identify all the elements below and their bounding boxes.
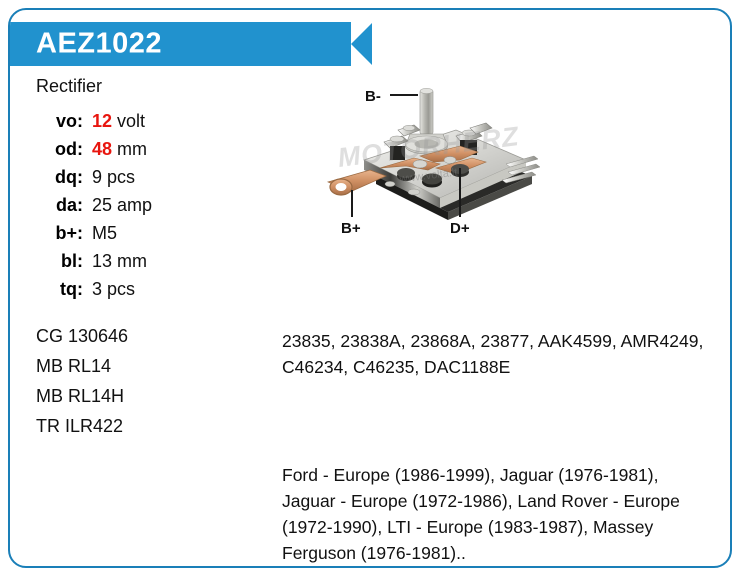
applications-text: Ford - Europe (1986-1999), Jaguar (1976-… (282, 462, 714, 566)
spec-number-bplus: M5 (92, 223, 117, 243)
spec-row-dq: dq: 9 pcs (48, 167, 286, 195)
spec-list: vo: 12 volt od: 48 mm dq: 9 pcs da: 25 a… (48, 111, 286, 307)
part-number-banner: AEZ1022 (8, 22, 372, 66)
spec-unit-bl: mm (117, 251, 147, 271)
spec-unit-da: amp (117, 195, 152, 215)
spec-value-od: 48 mm (92, 139, 147, 160)
spec-row-vo: vo: 12 volt (48, 111, 286, 139)
product-type-label: Rectifier (36, 76, 286, 97)
specifications-column: Rectifier vo: 12 volt od: 48 mm dq: 9 pc… (36, 76, 286, 441)
callout-label-d-plus: D+ (450, 220, 470, 237)
list-item: MB RL14 (36, 351, 286, 381)
spec-number-da: 25 (92, 195, 112, 215)
spec-label-od: od: (48, 139, 92, 160)
spec-label-tq: tq: (48, 279, 92, 300)
product-info-card: AEZ1022 Rectifier vo: 12 volt od: 48 mm … (8, 8, 732, 568)
spec-unit-dq: pcs (107, 167, 135, 187)
spec-label-vo: vo: (48, 111, 92, 132)
spec-row-bl: bl: 13 mm (48, 251, 286, 279)
spec-unit-tq: pcs (107, 279, 135, 299)
list-item: CG 130646 (36, 321, 286, 351)
page-title: AEZ1022 (36, 28, 162, 61)
spec-value-da: 25 amp (92, 195, 152, 216)
spec-value-bplus: M5 (92, 223, 117, 244)
list-item: TR ILR422 (36, 411, 286, 441)
cross-reference-list: CG 130646 MB RL14 MB RL14H TR ILR422 (36, 321, 286, 441)
banner-notch-shape (351, 22, 373, 66)
spec-value-vo: 12 volt (92, 111, 145, 132)
spec-row-tq: tq: 3 pcs (48, 279, 286, 307)
spec-row-bplus: b+: M5 (48, 223, 286, 251)
list-item: MB RL14H (36, 381, 286, 411)
spec-value-bl: 13 mm (92, 251, 147, 272)
callout-label-b-minus: B- (365, 88, 381, 105)
spec-number-tq: 3 (92, 279, 102, 299)
product-photo: MOTORHERZ www.volta.lt B- B+ D+ (310, 72, 540, 247)
callout-label-b-plus: B+ (341, 220, 361, 237)
spec-number-vo: 12 (92, 111, 112, 131)
spec-label-dq: dq: (48, 167, 92, 188)
spec-label-bplus: b+: (48, 223, 92, 244)
spec-unit-od: mm (117, 139, 147, 159)
spec-number-od: 48 (92, 139, 112, 159)
spec-value-dq: 9 pcs (92, 167, 135, 188)
spec-number-dq: 9 (92, 167, 102, 187)
oem-numbers-text: 23835, 23838A, 23868A, 23877, AAK4599, A… (282, 328, 714, 380)
spec-value-tq: 3 pcs (92, 279, 135, 300)
spec-label-bl: bl: (48, 251, 92, 272)
spec-unit-vo: volt (117, 111, 145, 131)
spec-row-od: od: 48 mm (48, 139, 286, 167)
spec-row-da: da: 25 amp (48, 195, 286, 223)
spec-number-bl: 13 (92, 251, 112, 271)
spec-label-da: da: (48, 195, 92, 216)
